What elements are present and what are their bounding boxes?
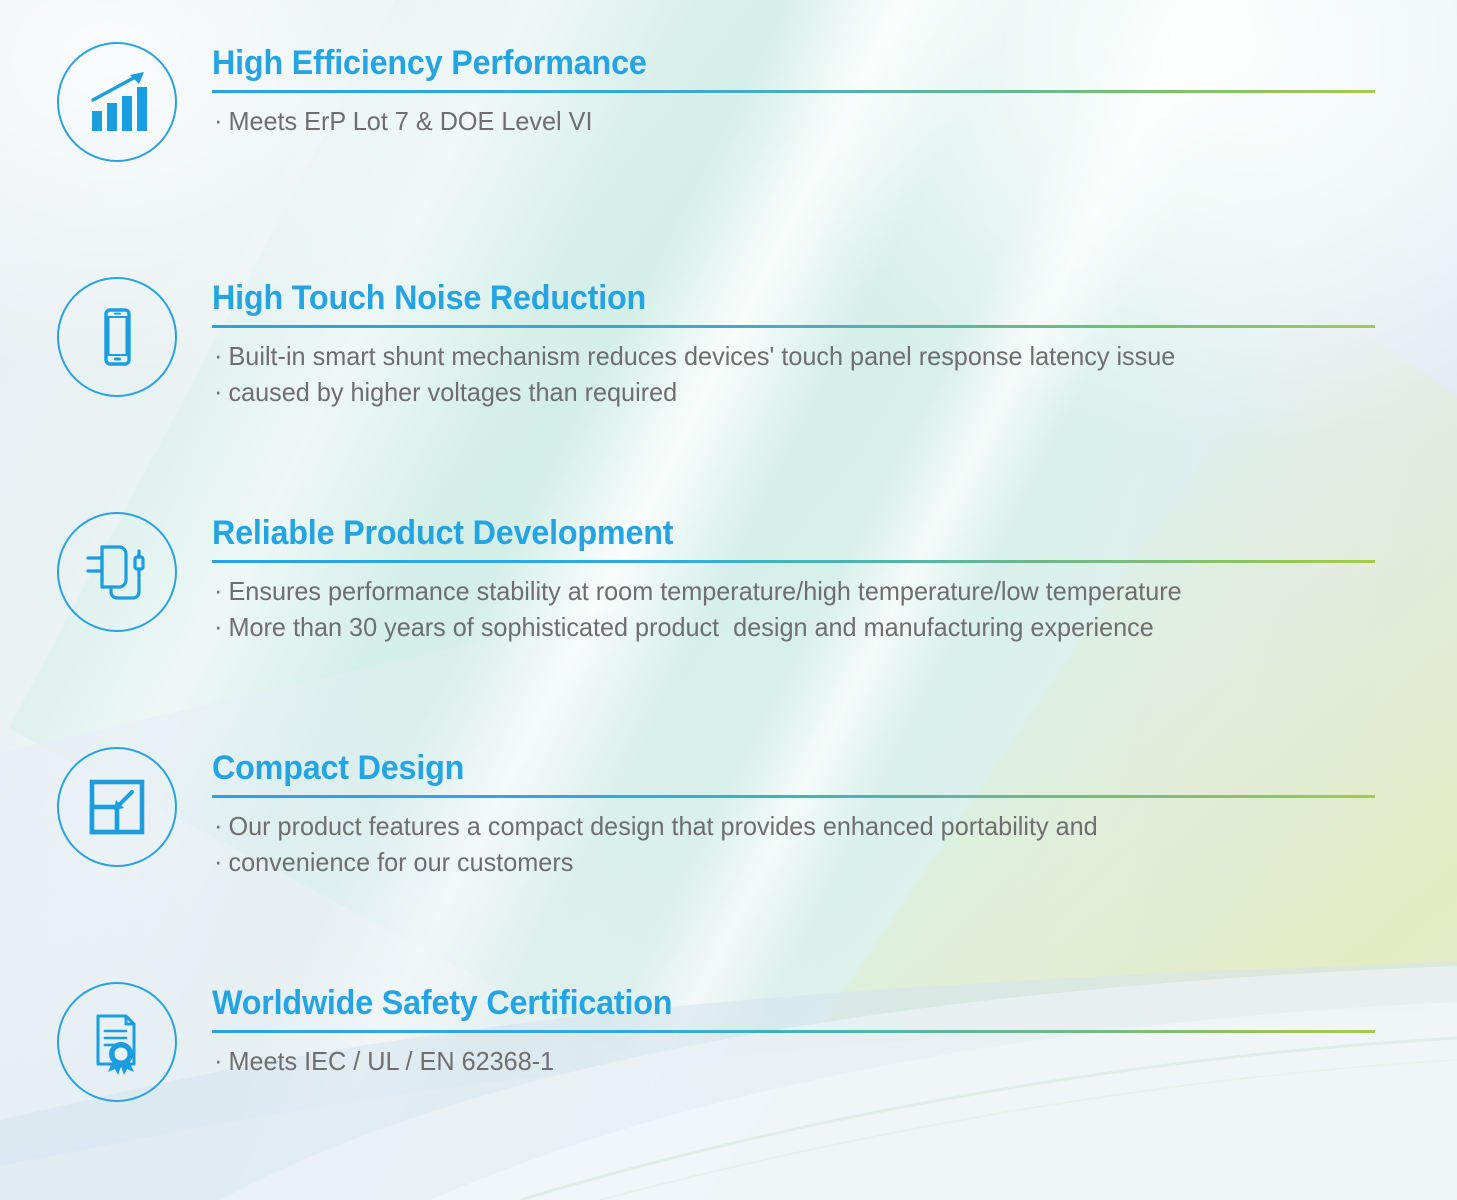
feature-list: High Efficiency Performance Meets ErP Lo… <box>0 0 1457 1200</box>
smartphone-icon <box>57 277 177 397</box>
bullet-item: Meets IEC / UL / EN 62368-1 <box>212 1044 1420 1080</box>
feature-divider <box>212 325 1375 328</box>
feature-bullets: Our product features a compact design th… <box>212 809 1457 881</box>
feature-divider <box>212 1030 1375 1033</box>
bullet-continuation: caused by higher voltages than required <box>212 375 1420 411</box>
bullet-item: Built-in smart shunt mechanism reduces d… <box>212 339 1420 375</box>
bullet-item: Our product features a compact design th… <box>212 809 1420 845</box>
feature-divider <box>212 560 1375 563</box>
feature-bullets: Built-in smart shunt mechanism reduces d… <box>212 339 1457 411</box>
feature-item-reliable-product-development: Reliable Product Development Ensures per… <box>0 512 1457 645</box>
feature-bullets: Ensures performance stability at room te… <box>212 574 1457 646</box>
feature-content: Worldwide Safety Certification Meets IEC… <box>212 982 1457 1080</box>
feature-bullets: Meets IEC / UL / EN 62368-1 <box>212 1044 1457 1080</box>
bullet-continuation: convenience for our customers <box>212 845 1420 881</box>
bar-chart-growth-icon <box>57 42 177 162</box>
feature-content: Reliable Product Development Ensures per… <box>212 512 1457 645</box>
feature-item-high-efficiency-performance: High Efficiency Performance Meets ErP Lo… <box>0 42 1457 162</box>
feature-title: Reliable Product Development <box>212 515 1395 552</box>
feature-title: High Touch Noise Reduction <box>212 280 1395 317</box>
bullet-item: Ensures performance stability at room te… <box>212 574 1420 610</box>
feature-content: High Efficiency Performance Meets ErP Lo… <box>212 42 1457 140</box>
feature-content: Compact Design Our product features a co… <box>212 747 1457 880</box>
compact-resize-icon <box>57 747 177 867</box>
bullet-item: Meets ErP Lot 7 & DOE Level VI <box>212 104 1420 140</box>
feature-highlights-page: High Efficiency Performance Meets ErP Lo… <box>0 0 1457 1200</box>
feature-item-high-touch-noise-reduction: High Touch Noise Reduction Built-in smar… <box>0 277 1457 410</box>
feature-divider <box>212 90 1375 93</box>
feature-divider <box>212 795 1375 798</box>
feature-title: Worldwide Safety Certification <box>212 985 1395 1022</box>
feature-title: High Efficiency Performance <box>212 45 1395 82</box>
feature-bullets: Meets ErP Lot 7 & DOE Level VI <box>212 104 1457 140</box>
bullet-item: More than 30 years of sophisticated prod… <box>212 610 1420 646</box>
power-adapter-icon <box>57 512 177 632</box>
certificate-seal-icon <box>57 982 177 1102</box>
feature-item-worldwide-safety-certification: Worldwide Safety Certification Meets IEC… <box>0 982 1457 1102</box>
feature-title: Compact Design <box>212 750 1395 787</box>
feature-item-compact-design: Compact Design Our product features a co… <box>0 747 1457 880</box>
feature-content: High Touch Noise Reduction Built-in smar… <box>212 277 1457 410</box>
